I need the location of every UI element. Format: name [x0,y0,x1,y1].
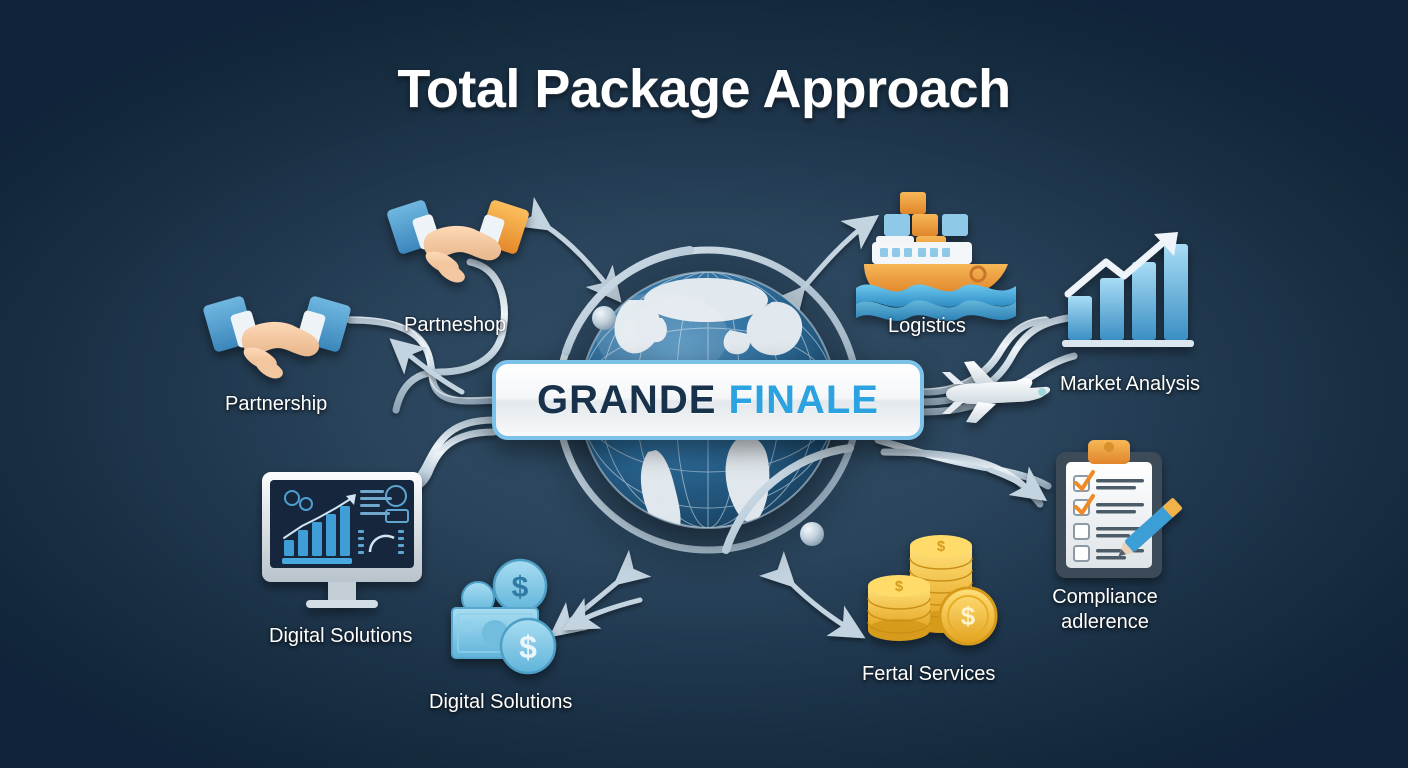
desktop-dashboard-icon [262,472,422,608]
compliance-label-line-1: Compliance [1040,585,1170,610]
node-label-partneshop: Partneshop [404,313,506,338]
node-label-digital-solutions-money: Digital Solutions [429,690,572,715]
svg-text:$: $ [961,601,976,631]
bar-chart-growth-icon [1062,232,1194,347]
svg-text:$: $ [895,578,904,595]
node-label-logistics: Logistics [888,314,966,339]
svg-text:$: $ [519,629,537,665]
airplane-icon [942,361,1050,423]
cargo-ship-icon [856,192,1016,321]
page-title: Total Package Approach [0,58,1408,120]
center-banner[interactable]: GRANDE FINALE [492,360,924,440]
gold-coins-icon: $ $ $ [868,535,996,644]
node-label-digital-solutions-monitor: Digital Solutions [269,624,412,649]
node-label-partnership: Partnership [225,392,327,417]
handshake-icon [386,199,530,283]
svg-text:$: $ [937,538,946,555]
banner-text-accent: FINALE [729,378,879,422]
handshake-icon [202,295,352,378]
banknote-coins-icon: $ $ [452,560,555,673]
banner-text-primary: GRANDE [537,378,716,422]
node-label-market-analysis: Market Analysis [1060,372,1200,397]
compliance-label-line-2: adlerence [1040,610,1170,635]
clipboard-checklist-icon [1056,440,1183,578]
infographic-canvas: Total Package Approach [0,0,1408,768]
svg-text:$: $ [512,571,529,604]
node-label-compliance-adlerence: Compliance adlerence [1040,585,1170,635]
node-label-fertal-services: Fertal Services [862,662,995,687]
